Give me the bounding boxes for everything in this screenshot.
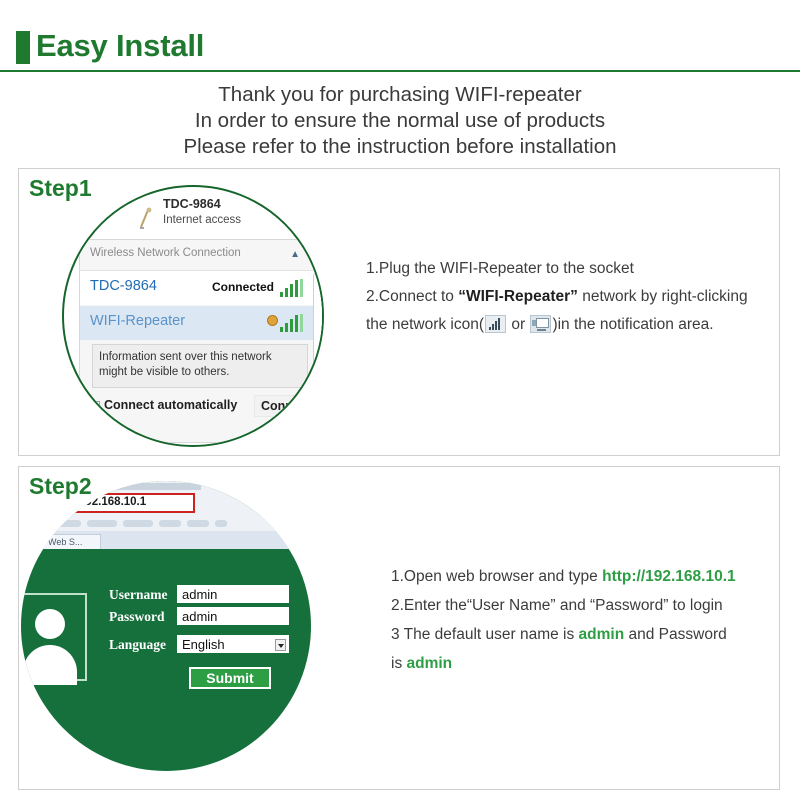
connect-automatically-label: Connect automatically [104,398,237,412]
user-avatar-icon [21,593,87,681]
step2-panel: Step2 192.168.10.1 eater Web S... [18,466,780,790]
step2-line1-part-a: 1.Open web browser and type [391,568,602,585]
step2-instruction-line-4: is admin [391,649,783,678]
step1-panel: Step1 TDC-9864 Internet access Wireless … [18,168,780,456]
toolbar-item [159,520,181,527]
browser-menubar [81,483,201,490]
step1-instruction-line-3: the network icon( or )in the notificatio… [366,311,766,339]
username-label: Username [109,587,167,603]
tooltip-status: Internet access [163,214,241,226]
avatar-head [35,609,65,639]
toolbar-item [123,520,153,527]
network-ssid: TDC-9864 [90,278,157,294]
step2-line3-part-c: and Password [624,626,727,643]
avatar-body [23,645,77,685]
step1-line2-part-c: network by right-clicking [578,288,748,305]
step2-line3-part-a: 3 The default user name is [391,626,579,643]
browser-chrome: 192.168.10.1 eater Web S... [21,481,311,549]
submit-button[interactable]: Submit [189,667,271,689]
header-accent-bar [16,31,30,64]
step1-instructions: 1.Plug the WIFI-Repeater to the socket 2… [366,255,766,339]
toolbar-item [187,520,209,527]
step2-line4-password: admin [407,655,453,672]
tooltip-ssid: TDC-9864 [163,197,221,211]
step2-line4-part-a: is [391,655,407,672]
browser-tabbar: eater Web S... [21,531,311,549]
signal-bars-warning-icon [280,314,304,332]
network-flyout-panel: Wireless Network Connection ▲ TDC-9864 C… [79,239,324,443]
intro-line-2: In order to ensure the normal use of pro… [0,108,800,134]
intro-text: Thank you for purchasing WIFI-repeater I… [0,82,800,160]
toolbar-item [215,520,227,527]
page-title: Easy Install [36,28,204,64]
address-bar-url[interactable]: 192.168.10.1 [79,496,146,508]
network-flyout-header: Wireless Network Connection ▲ [80,240,324,271]
step2-line3-username: admin [579,626,625,643]
language-label: Language [109,637,166,653]
password-label: Password [109,609,165,625]
language-select-value: English [182,637,225,652]
step2-illustration: 192.168.10.1 eater Web S... Username adm… [21,481,311,771]
warning-badge-icon [267,315,278,326]
chevron-down-icon[interactable] [275,639,286,651]
wireless-network-screenshot: TDC-9864 Internet access Wireless Networ… [62,195,324,443]
chevron-up-icon[interactable]: ▲ [290,249,300,260]
step1-illustration: TDC-9864 Internet access Wireless Networ… [62,185,324,447]
step1-line3-part-a: the network icon( [366,316,484,333]
step2-instruction-line-3: 3 The default user name is admin and Pas… [391,620,783,649]
network-tooltip: TDC-9864 Internet access [95,195,324,235]
step1-line2-emphasis: “WIFI-Repeater” [458,288,578,305]
network-list-item[interactable]: WIFI-Repeater [80,306,324,340]
step1-instruction-line-1: 1.Plug the WIFI-Repeater to the socket [366,255,766,283]
wifi-antenna-icon [139,207,155,229]
browser-tab[interactable]: eater Web S... [21,534,101,549]
page-header: Easy Install [0,0,800,72]
step2-instructions: 1.Open web browser and type http://192.1… [391,562,783,678]
step2-instruction-line-1: 1.Open web browser and type http://192.1… [391,562,783,591]
intro-line-1: Thank you for purchasing WIFI-repeater [0,82,800,108]
network-monitor-icon [530,315,551,333]
network-status: Connected [212,280,274,294]
globe-icon [72,498,79,505]
step1-line2-part-a: 2.Connect to [366,288,458,305]
language-select[interactable]: English [177,635,289,653]
toolbar-item [51,520,81,527]
network-flyout-footer: Connect automatically Connect [80,392,324,424]
step2-instruction-line-2: 2.Enter the“User Name” and “Password” to… [391,591,783,620]
favicon-icon [49,497,59,507]
network-flyout-header-label: Wireless Network Connection [90,247,241,259]
signal-bars-icon [280,279,304,297]
step2-line1-url: http://192.168.10.1 [602,568,736,585]
toolbar-item [27,520,45,527]
signal-bars-icon [485,315,506,333]
step1-line3-part-c: )in the notification area. [552,316,713,333]
username-input[interactable]: admin [177,585,289,603]
network-list-item[interactable]: TDC-9864 Connected [80,271,324,305]
network-security-note: Information sent over this network might… [92,344,308,388]
step1-line3-part-b: or [507,316,529,333]
browser-toolbar [21,517,311,530]
connect-button[interactable]: Connect [254,395,318,417]
network-list-scrollbar[interactable] [313,272,324,386]
toolbar-item [87,520,117,527]
connect-automatically-checkbox[interactable] [88,401,100,413]
intro-line-3: Please refer to the instruction before i… [0,134,800,160]
header-divider [0,70,800,72]
step1-instruction-line-2: 2.Connect to “WIFI-Repeater” network by … [366,283,766,311]
password-input[interactable]: admin [177,607,289,625]
network-ssid: WIFI-Repeater [90,313,185,329]
